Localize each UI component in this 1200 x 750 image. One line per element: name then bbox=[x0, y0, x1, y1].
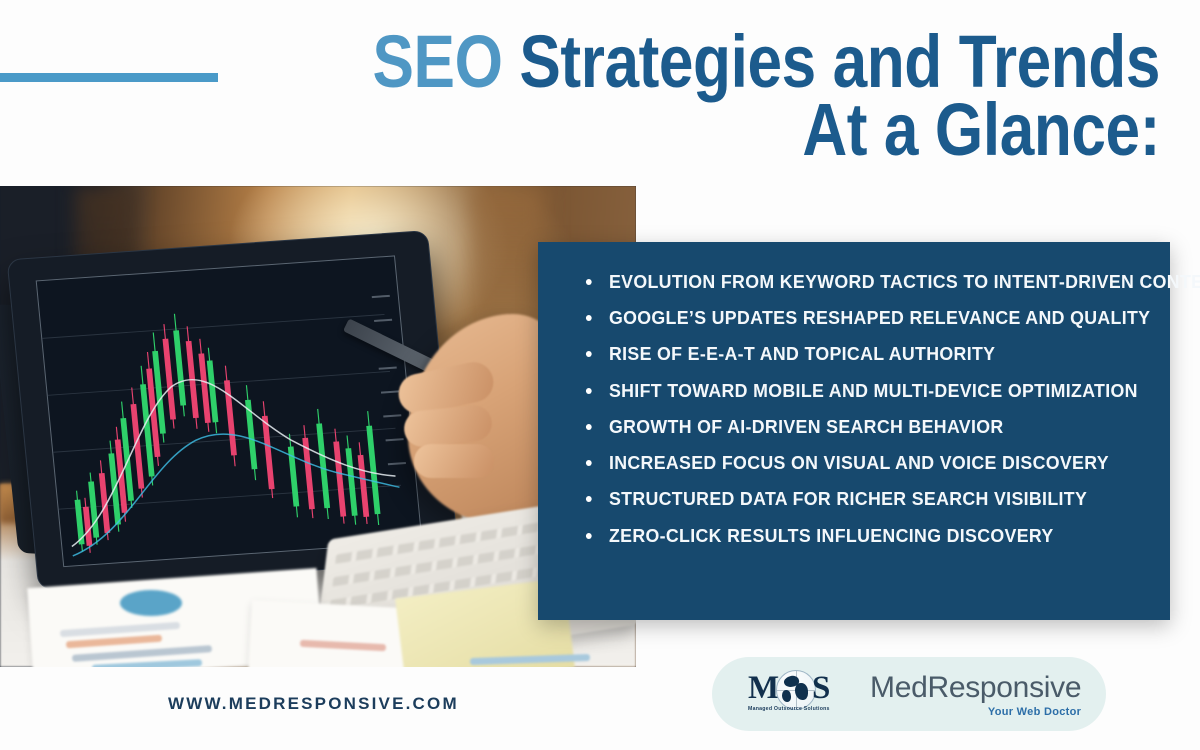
page-title: SEO Strategies and Trends At a Glance: bbox=[354, 28, 1160, 164]
finger bbox=[414, 444, 494, 478]
list-item: Shift toward mobile and multi-device opt… bbox=[584, 381, 1129, 402]
list-item: Increased focus on visual and voice disc… bbox=[584, 453, 1129, 474]
candlestick-chart bbox=[37, 257, 407, 566]
key-points-list: Evolution from keyword tactics to intent… bbox=[584, 272, 1152, 562]
title-line-2: At a Glance: bbox=[354, 96, 1160, 164]
infographic-canvas: SEO Strategies and Trends At a Glance: bbox=[0, 0, 1200, 750]
tablet-screen bbox=[36, 255, 423, 567]
globe-icon bbox=[776, 670, 816, 710]
brand-name: MedResponsive bbox=[870, 673, 1081, 703]
list-item: Structured data for richer search visibi… bbox=[584, 489, 1129, 510]
list-item: Evolution from keyword tactics to intent… bbox=[584, 272, 1129, 293]
website-url[interactable]: WWW.MEDRESPONSIVE.COM bbox=[168, 694, 459, 714]
list-item: Google’s updates reshaped relevance and … bbox=[584, 308, 1129, 329]
mos-letter-m: M bbox=[748, 672, 779, 705]
logo-badge[interactable]: M S Managed Outsource Solutions MedRespo… bbox=[712, 657, 1106, 731]
accent-rule bbox=[0, 73, 218, 82]
list-item: Rise of E-E-A-T and topical authority bbox=[584, 344, 1129, 365]
list-item: Zero-click results influencing discovery bbox=[584, 526, 1129, 547]
title-part-seo: SEO bbox=[373, 20, 520, 103]
mos-letter-s: S bbox=[812, 672, 830, 705]
list-item: Growth of AI-driven search behavior bbox=[584, 417, 1129, 438]
mos-logo-mark: M S Managed Outsource Solutions bbox=[748, 670, 856, 720]
key-points-panel: Evolution from keyword tactics to intent… bbox=[538, 242, 1170, 620]
mos-tagline: Managed Outsource Solutions bbox=[748, 706, 856, 712]
brand-tagline: Your Web Doctor bbox=[870, 706, 1081, 718]
paper-pie-chart bbox=[120, 590, 182, 616]
